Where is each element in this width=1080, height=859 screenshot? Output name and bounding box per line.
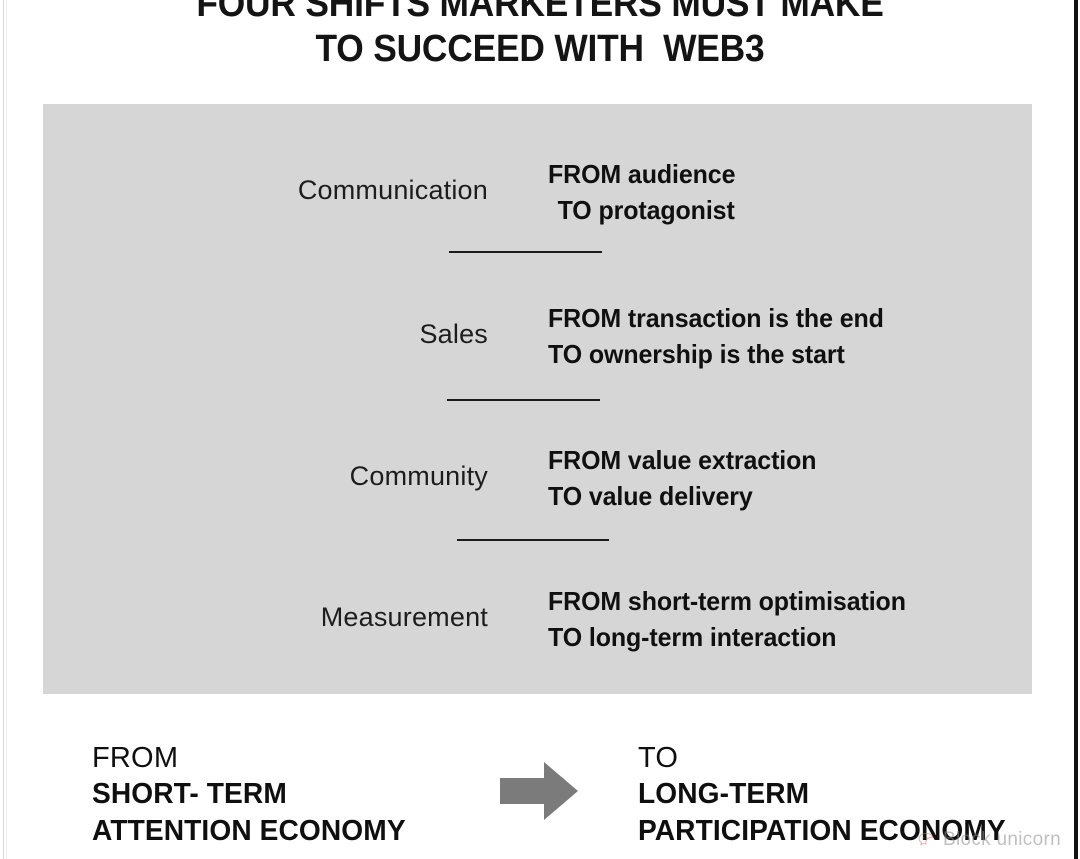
watermark: Block unicorn (918, 829, 1061, 851)
shift-text-community: FROM value extraction TO value delivery (548, 442, 816, 514)
shift-text-measurement: FROM short-term optimisation TO long-ter… (548, 583, 906, 655)
shift-divider-2 (447, 399, 600, 401)
shift-label-communication: Communication (43, 174, 488, 206)
summary-to-line-1: LONG-TERM (638, 776, 1006, 813)
watermark-text: Block unicorn (943, 829, 1061, 851)
shift-to-sales: TO ownership is the start (548, 336, 884, 372)
shift-text-communication: FROM audience TO protagonist (548, 156, 735, 228)
summary-from-line-1: SHORT- TERM (92, 776, 406, 813)
shift-text-sales: FROM transaction is the end TO ownership… (548, 300, 884, 372)
shift-label-sales: Sales (43, 318, 488, 350)
arrow-right-icon (500, 762, 578, 820)
poster-canvas: FOUR SHIFTS MARKETERS MUST MAKE TO SUCCE… (0, 0, 1080, 859)
shift-from-community: FROM value extraction (548, 442, 816, 478)
shift-divider-3 (457, 539, 609, 541)
summary-from-block: FROM SHORT- TERM ATTENTION ECONOMY (92, 740, 415, 850)
shift-to-communication: TO protagonist (548, 192, 735, 228)
shift-from-sales: FROM transaction is the end (548, 300, 884, 336)
shift-to-community: TO value delivery (548, 478, 816, 514)
page-title: FOUR SHIFTS MARKETERS MUST MAKE TO SUCCE… (38, 0, 1042, 72)
shift-divider-1 (449, 251, 602, 253)
shift-from-measurement: FROM short-term optimisation (548, 583, 906, 619)
block-unicorn-logo-icon (918, 831, 937, 850)
shifts-panel: Communication FROM audience TO protagoni… (43, 104, 1032, 694)
shift-label-measurement: Measurement (43, 601, 488, 633)
page-title-line-1: FOUR SHIFTS MARKETERS MUST MAKE (38, 0, 1042, 27)
shift-label-community: Community (43, 460, 488, 492)
shift-to-measurement: TO long-term interaction (548, 619, 906, 655)
summary-from-kicker: FROM (92, 740, 415, 776)
summary-to-kicker: TO (638, 740, 1017, 776)
page-title-line-2: TO SUCCEED WITH WEB3 (38, 27, 1042, 72)
summary-from-line-2: ATTENTION ECONOMY (92, 813, 406, 850)
shift-from-communication: FROM audience (548, 156, 735, 192)
